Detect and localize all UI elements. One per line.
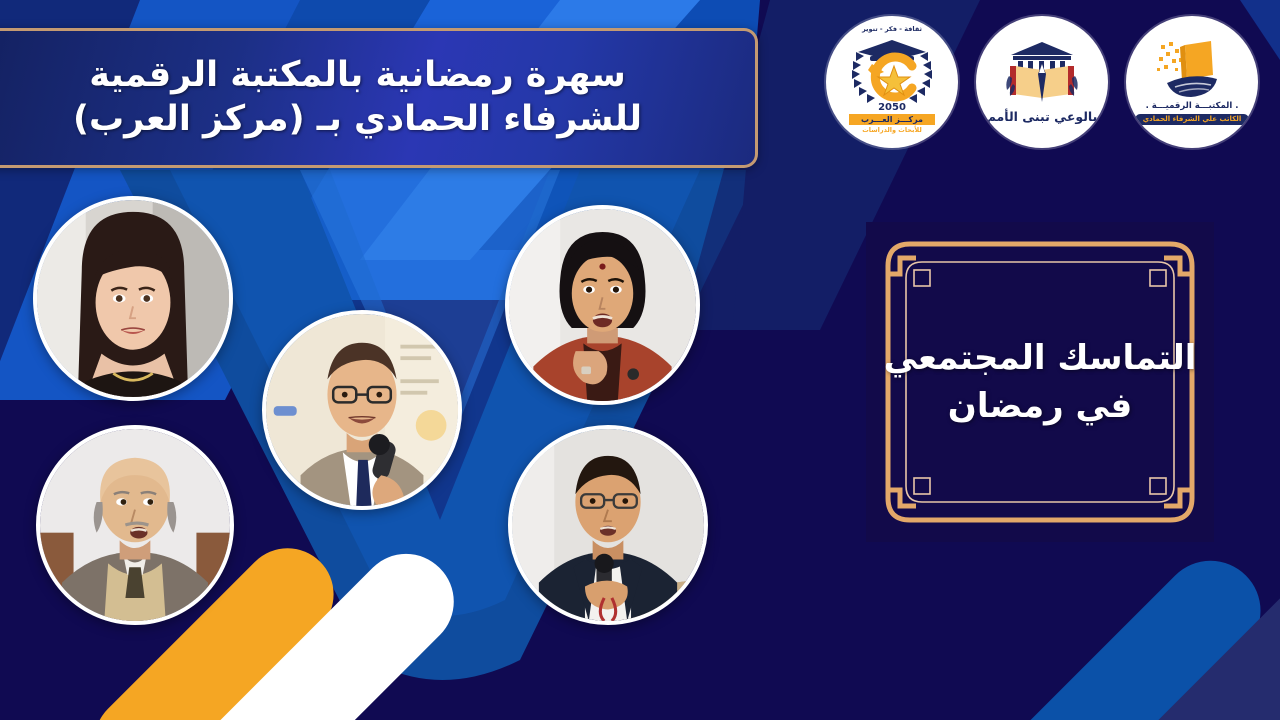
event-title-banner: سهرة رمضانية بالمكتبة الرقمية للشرفاء ال… bbox=[0, 28, 758, 168]
awareness-logo[interactable]: بالوعي تبنى الأمم bbox=[976, 16, 1108, 148]
arab-center-ribbon: مركـــز العـــرب bbox=[849, 114, 935, 125]
topic-line-1: التماسك المجتمعي bbox=[884, 336, 1197, 380]
poster-canvas: سهرة رمضانية بالمكتبة الرقمية للشرفاء ال… bbox=[0, 0, 1280, 720]
digital-library-caption: . المكتبـــة الرقميـــة . bbox=[1146, 101, 1239, 112]
book-hand-icon bbox=[1155, 39, 1229, 101]
arab-center-logo[interactable]: ثقافة - فكر - تنوير bbox=[826, 16, 958, 148]
arab-center-year: 2050 bbox=[878, 102, 906, 113]
event-title-line-2: للشرفاء الحمادي بـ (مركز العرب) bbox=[73, 98, 642, 142]
star-laurel-cap-icon bbox=[844, 30, 940, 104]
logo-row: . المكتبـــة الرقميـــة . الكاتب علي الش… bbox=[826, 16, 1258, 148]
portrait-image-5 bbox=[512, 429, 704, 621]
portrait-image-2 bbox=[266, 314, 458, 506]
portrait-speaker-5[interactable] bbox=[508, 425, 708, 625]
portrait-speaker-1[interactable] bbox=[33, 196, 233, 401]
awareness-caption: بالوعي تبنى الأمم bbox=[987, 109, 1098, 125]
arab-center-arc-text: ثقافة - فكر - تنوير bbox=[826, 25, 958, 33]
digital-library-ribbon: الكاتب علي الشرفاء الحمادي bbox=[1135, 114, 1250, 125]
topic-panel: التماسك المجتمعي في رمضان bbox=[866, 222, 1214, 542]
digital-library-logo[interactable]: . المكتبـــة الرقميـــة . الكاتب علي الش… bbox=[1126, 16, 1258, 148]
portrait-image-4 bbox=[40, 429, 230, 621]
portrait-image-3 bbox=[509, 209, 696, 401]
portrait-speaker-3[interactable] bbox=[505, 205, 700, 405]
topic-line-2: في رمضان bbox=[948, 384, 1132, 428]
event-title-line-1: سهرة رمضانية بالمكتبة الرقمية bbox=[89, 54, 625, 98]
portrait-speaker-4[interactable] bbox=[36, 425, 234, 625]
portrait-image-1 bbox=[37, 200, 229, 397]
portrait-speaker-2[interactable] bbox=[262, 310, 462, 510]
temple-book-pen-icon bbox=[1001, 40, 1083, 106]
arab-center-subtitle: للأبحاث والدراسات bbox=[862, 126, 922, 134]
